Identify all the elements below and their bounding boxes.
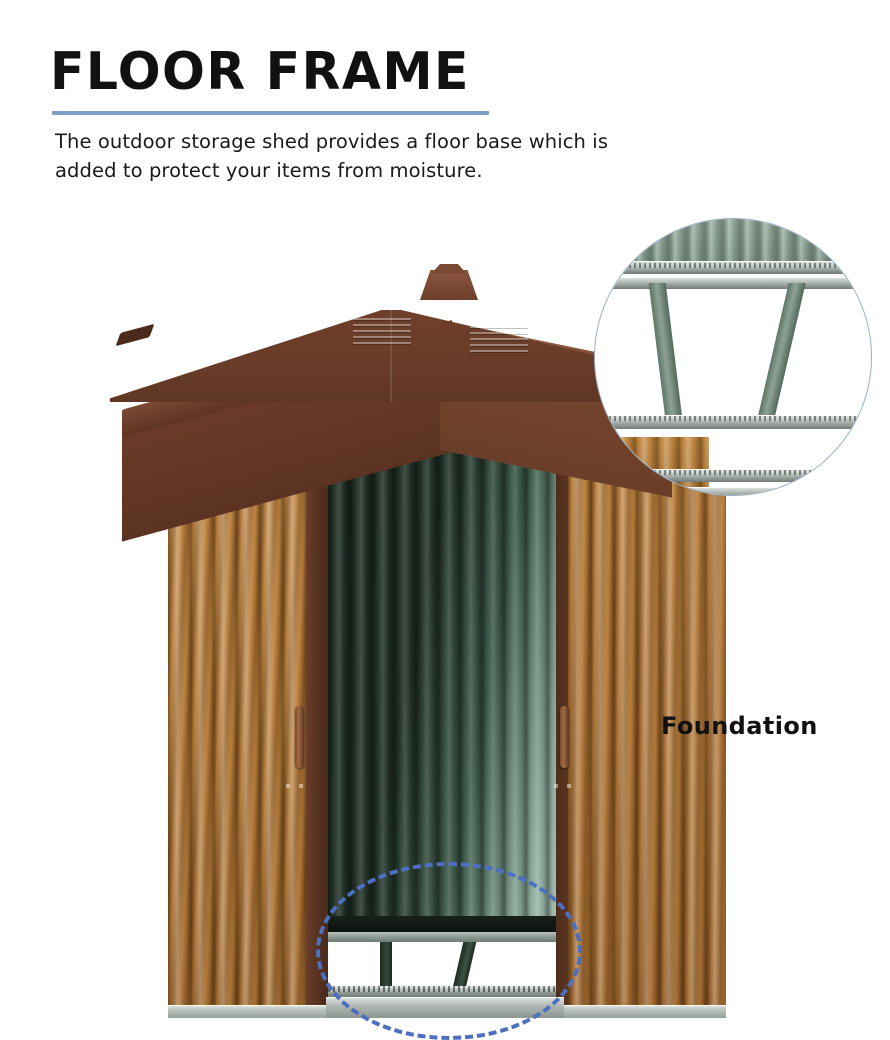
header-section: FLOOR FRAME The outdoor storage shed pro… — [0, 0, 890, 200]
closeup-rail-bottom — [594, 487, 872, 496]
roof-vent-louver-right — [470, 324, 528, 354]
floor-rail-texture — [328, 986, 560, 992]
floor-frame-post — [380, 942, 392, 986]
closeup-brace-right — [757, 283, 805, 419]
foundation-closeup-circle — [594, 218, 872, 496]
roof-vent-louver-left — [353, 316, 411, 346]
roof-eave-left — [116, 324, 155, 346]
closeup-brace-left — [649, 283, 683, 419]
description-text: The outdoor storage shed provides a floo… — [55, 127, 755, 185]
door-handle-left — [295, 706, 304, 768]
ridge-cap — [420, 270, 478, 300]
door-handle-right — [560, 706, 569, 768]
floor-frame-through-doorway — [328, 916, 560, 1007]
floor-beam-shadow — [328, 916, 560, 932]
closeup-rail-second — [594, 277, 872, 289]
door-screw-row-right — [554, 784, 580, 788]
product-photo: Foundation — [0, 200, 890, 890]
door-screw-row-left — [286, 784, 312, 788]
foundation-caption: Foundation — [661, 712, 818, 740]
closeup-rail-middle-texture — [594, 416, 872, 421]
ridge-cap-top — [431, 264, 467, 274]
floor-rail-upper — [328, 932, 560, 942]
floor-frame-diagonal-brace — [453, 942, 477, 988]
shed-wall-right — [568, 405, 726, 1007]
page-title: FLOOR FRAME — [50, 44, 470, 100]
closeup-rail-lower-texture — [594, 470, 872, 475]
door-center-jamb — [306, 405, 328, 1007]
title-divider — [52, 111, 489, 115]
base-rail-front-threshold — [326, 997, 564, 1018]
closeup-rail-top-texture — [594, 263, 872, 268]
closeup-green-siding — [595, 219, 871, 261]
